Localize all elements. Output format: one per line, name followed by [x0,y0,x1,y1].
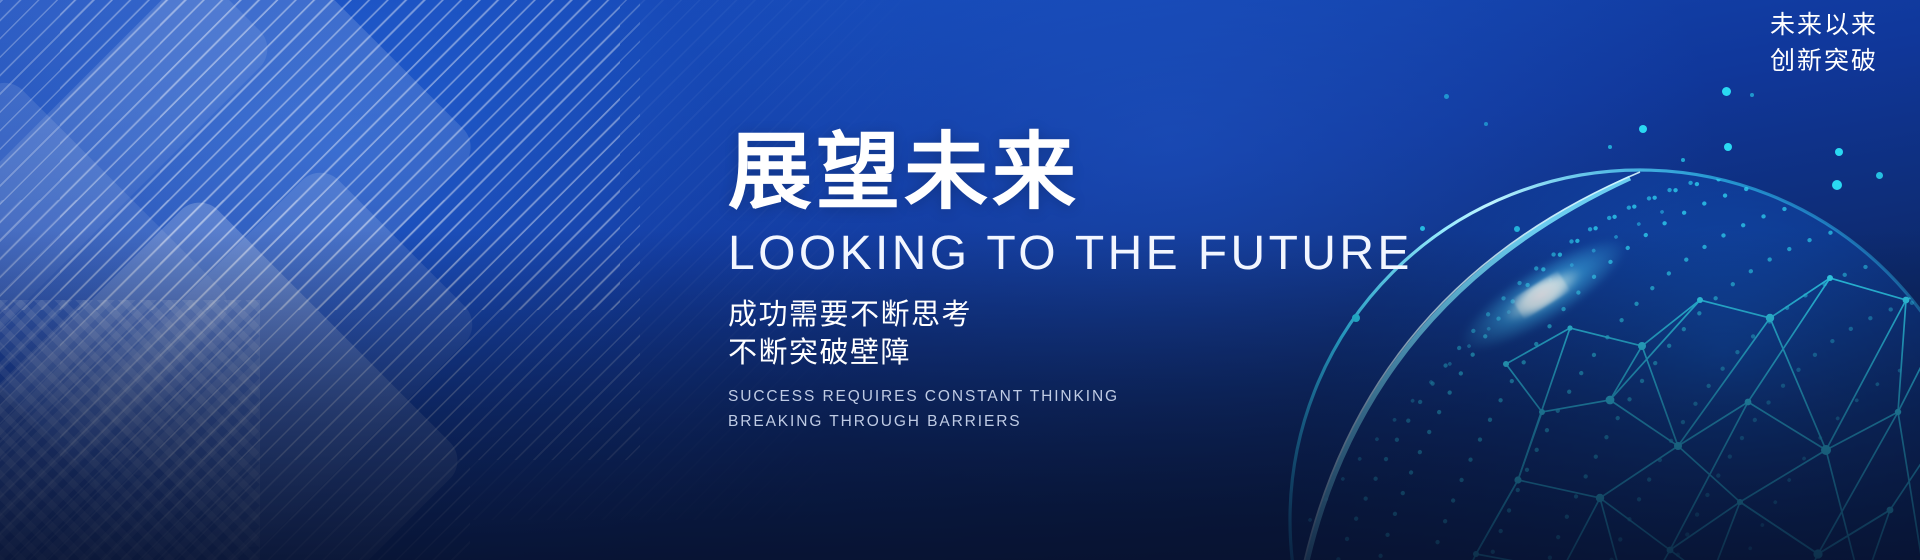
lens-flare-core [1512,271,1571,320]
floating-dot [1484,122,1488,126]
headline-block: 展望未来 LOOKING TO THE FUTURE 成功需要不断思考 不断突破… [728,130,1488,434]
deco-panel-6 [0,283,107,560]
floating-dot [1639,125,1647,133]
page-title: 展望未来 [728,130,1488,214]
tagline-cn-line-2: 不断突破壁障 [728,334,1488,372]
tagline-cn-block: 成功需要不断思考 不断突破壁障 [728,296,1488,373]
floating-dot [1832,180,1842,190]
floating-dot [1724,143,1732,151]
floating-dot [1835,148,1843,156]
tagline-cn-line-1: 成功需要不断思考 [728,296,1488,334]
floating-dot [1444,94,1449,99]
floating-dot [1514,226,1520,232]
corner-slogan: 未来以来 创新突破 [1770,8,1878,79]
tagline-en-line-2: BREAKING THROUGH BARRIERS [728,409,1488,434]
floating-dot [1876,172,1883,179]
floating-dot [1722,87,1731,96]
floating-dot [1750,93,1754,97]
banner-root: 展望未来 LOOKING TO THE FUTURE 成功需要不断思考 不断突破… [0,0,1920,560]
page-subtitle-en: LOOKING TO THE FUTURE [728,230,1488,278]
tagline-en-line-1: SUCCESS REQUIRES CONSTANT THINKING [728,384,1488,409]
corner-slogan-line-1: 未来以来 [1770,8,1878,44]
floating-dot [1681,158,1685,162]
tagline-en-block: SUCCESS REQUIRES CONSTANT THINKING BREAK… [728,384,1488,434]
floating-dot [1608,145,1612,149]
corner-slogan-line-2: 创新突破 [1770,44,1878,80]
